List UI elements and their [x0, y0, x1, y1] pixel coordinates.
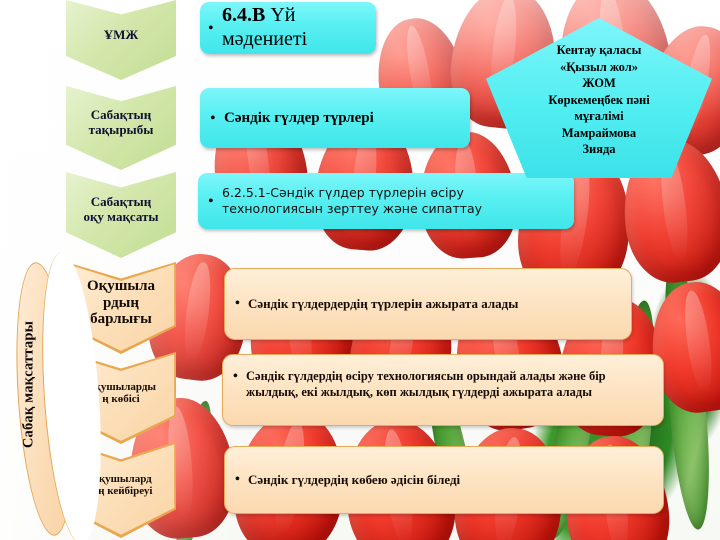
flow-step-label: Сабақтың тақырыбы	[89, 108, 154, 138]
learning-objective-text: 6.2.5.1-Сәндік гүлдер түрлерін өсіру тех…	[222, 185, 566, 217]
lesson-topic-box[interactable]: • Сәндік гүлдер түрлері	[200, 88, 470, 148]
outcome-text: Сәндік гүлдердердің түрлерін ажырата ала…	[248, 296, 621, 312]
slide-title-code: 6.4.В	[222, 4, 265, 26]
learning-objective-box[interactable]: • 6.2.5.1-Сәндік гүлдер түрлерін өсіру т…	[198, 173, 574, 229]
outcome-box-most[interactable]: • Сәндік гүлдердің өсіру технологиясын о…	[222, 354, 664, 426]
outcome-box-some[interactable]: • Сәндік гүлдердің көбею әдісін біледі	[224, 446, 664, 514]
outcome-text: Сәндік гүлдердің өсіру технологиясын оры…	[246, 369, 653, 401]
presentation-slide: ҰМЖ Сабақтың тақырыбы Сабақтың оқу мақса…	[0, 0, 720, 540]
bullet-icon: •	[208, 192, 222, 210]
bullet-icon: •	[210, 109, 224, 127]
flow-step-label: ҰМЖ	[104, 28, 139, 43]
bullet-icon: •	[235, 297, 248, 311]
outcome-text: Сәндік гүлдердің көбею әдісін біледі	[248, 472, 653, 488]
lesson-goals-label: Сабақ мақсаттары	[21, 260, 38, 510]
bullet-icon: •	[208, 19, 222, 37]
flow-step-label: Оқушыла рдың барлығы	[87, 278, 155, 328]
teacher-info-text: Кентау қаласы «Қызыл жол» ЖОМ Көркемеңбе…	[548, 42, 649, 158]
slide-title-box[interactable]: • 6.4.В Үй мәдениеті	[200, 2, 376, 54]
flow-step-label: Сабақтың оқу мақсаты	[83, 195, 158, 225]
slide-title-text: 6.4.В Үй мәдениеті	[222, 4, 370, 51]
bullet-icon: •	[235, 473, 248, 487]
outcome-box-all[interactable]: • Сәндік гүлдердердің түрлерін ажырата а…	[224, 268, 632, 340]
lesson-topic-text: Сәндік гүлдер түрлері	[224, 110, 462, 127]
bullet-icon: •	[233, 369, 246, 384]
